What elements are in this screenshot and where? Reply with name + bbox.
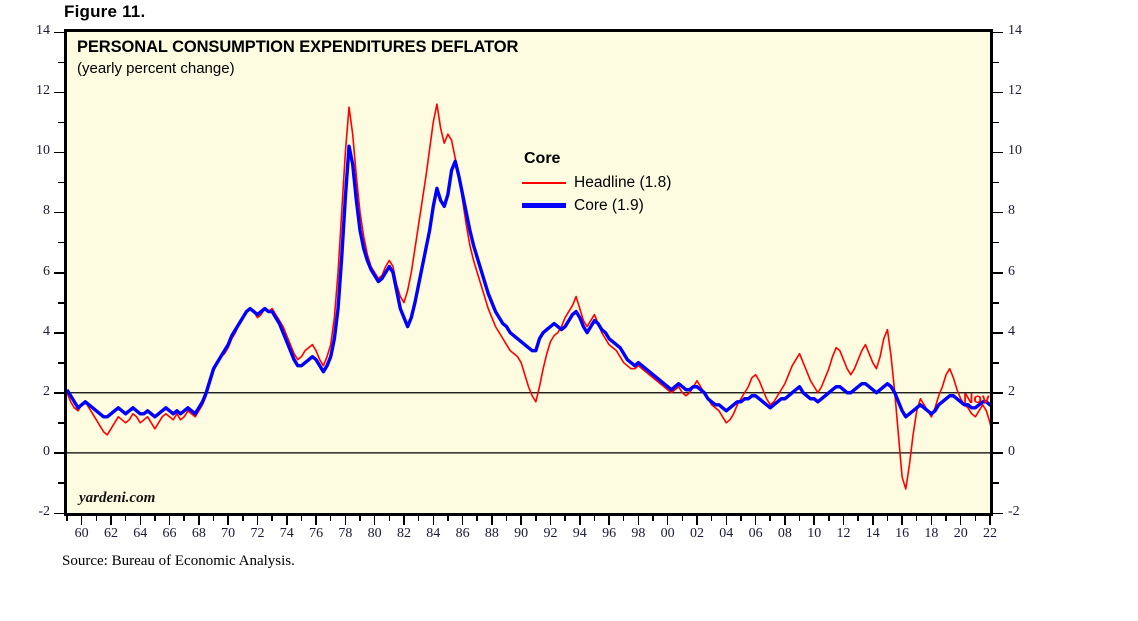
x-axis-label: 64: [125, 526, 155, 542]
x-axis-label: 82: [389, 526, 419, 542]
y-tick-left: [54, 32, 64, 34]
x-axis-label: 04: [711, 526, 741, 542]
x-tick: [96, 516, 98, 521]
y-tick-right: [993, 152, 1003, 154]
x-tick: [198, 516, 200, 525]
x-tick: [140, 516, 142, 525]
y-tick-right: [993, 272, 1003, 274]
x-tick: [169, 516, 171, 525]
y-tick-right: [993, 32, 1003, 34]
x-axis-label: 86: [448, 526, 478, 542]
x-tick: [755, 516, 757, 525]
x-tick: [740, 516, 742, 521]
chart-legend: Core Headline (1.8) Core (1.9): [522, 150, 671, 217]
x-tick: [887, 516, 889, 521]
x-tick: [389, 516, 391, 521]
y-tick-right: [993, 122, 999, 124]
x-tick: [242, 516, 244, 521]
x-tick: [638, 516, 640, 525]
legend-item-core[interactable]: Core (1.9): [522, 194, 671, 217]
legend-title: Core: [524, 150, 671, 168]
x-tick: [520, 516, 522, 525]
y-tick-left: [54, 152, 64, 154]
x-axis-label: 16: [887, 526, 917, 542]
x-tick: [857, 516, 859, 521]
x-tick: [125, 516, 127, 521]
y-tick-left: [54, 272, 64, 274]
y-tick-right: [993, 212, 1003, 214]
y-tick-left: [58, 302, 64, 304]
y-tick-right: [993, 92, 1003, 94]
x-tick: [550, 516, 552, 525]
x-tick: [403, 516, 405, 525]
y-tick-right: [993, 332, 1003, 334]
y-axis-label: 14: [16, 23, 50, 39]
y-tick-right: [993, 482, 999, 484]
x-tick: [813, 516, 815, 525]
y-tick-left: [58, 182, 64, 184]
x-tick: [433, 516, 435, 525]
x-tick: [506, 516, 508, 521]
y-axis-label-right: 8: [1008, 203, 1042, 219]
x-tick: [682, 516, 684, 521]
x-tick: [916, 516, 918, 521]
x-tick: [183, 516, 185, 521]
x-axis-label: 72: [242, 526, 272, 542]
y-axis-label: 4: [16, 324, 50, 340]
y-tick-right: [993, 362, 999, 364]
x-tick: [359, 516, 361, 521]
legend-label-headline: Headline (1.8): [574, 174, 671, 192]
x-axis-label: 02: [682, 526, 712, 542]
x-axis-label: 06: [741, 526, 771, 542]
x-tick: [315, 516, 317, 525]
x-tick: [154, 516, 156, 521]
x-axis-label: 78: [330, 526, 360, 542]
x-axis-label: 98: [623, 526, 653, 542]
y-axis-label: -2: [16, 504, 50, 520]
x-tick: [901, 516, 903, 525]
y-tick-left: [54, 332, 64, 334]
x-tick: [843, 516, 845, 525]
x-tick: [623, 516, 625, 521]
x-tick: [945, 516, 947, 521]
chart-subtitle: (yearly percent change): [77, 60, 235, 77]
x-axis-label: 20: [946, 526, 976, 542]
x-axis-label: 84: [418, 526, 448, 542]
y-axis-label-right: 2: [1008, 384, 1042, 400]
x-tick: [872, 516, 874, 525]
y-tick-right: [993, 452, 1003, 454]
zero-and-two-lines: [67, 393, 990, 453]
x-tick: [667, 516, 669, 525]
y-tick-left: [54, 92, 64, 94]
y-tick-left: [54, 513, 64, 515]
y-tick-right: [993, 422, 999, 424]
end-value-label: Nov: [963, 390, 989, 406]
chart-title: PERSONAL CONSUMPTION EXPENDITURES DEFLAT…: [77, 38, 518, 57]
x-tick: [81, 516, 83, 525]
x-tick: [213, 516, 215, 521]
x-tick: [696, 516, 698, 525]
legend-swatch-core-icon: [522, 203, 566, 208]
x-tick: [564, 516, 566, 521]
y-tick-left: [58, 62, 64, 64]
x-tick: [286, 516, 288, 525]
y-axis-label-right: 14: [1008, 23, 1042, 39]
y-tick-left: [58, 362, 64, 364]
y-tick-right: [993, 302, 999, 304]
y-axis-label: 0: [16, 444, 50, 460]
y-tick-left: [54, 212, 64, 214]
x-axis-label: 18: [916, 526, 946, 542]
y-tick-right: [993, 392, 1003, 394]
x-tick: [828, 516, 830, 521]
x-axis-label: 08: [770, 526, 800, 542]
x-axis-label: 96: [594, 526, 624, 542]
x-tick: [975, 516, 977, 521]
x-tick: [608, 516, 610, 525]
source-note: Source: Bureau of Economic Analysis.: [62, 553, 295, 570]
x-tick: [726, 516, 728, 525]
x-tick: [447, 516, 449, 521]
x-axis-label: 66: [155, 526, 185, 542]
legend-label-core: Core (1.9): [574, 197, 644, 215]
legend-swatch-headline-icon: [522, 182, 566, 184]
x-tick: [769, 516, 771, 521]
x-tick: [535, 516, 537, 521]
y-axis-label: 2: [16, 384, 50, 400]
x-tick: [330, 516, 332, 521]
y-tick-right: [993, 62, 999, 64]
y-tick-left: [58, 242, 64, 244]
x-tick: [652, 516, 654, 521]
y-axis-label: 8: [16, 203, 50, 219]
plot-area: PERSONAL CONSUMPTION EXPENDITURES DEFLAT…: [64, 29, 993, 516]
y-tick-left: [58, 422, 64, 424]
x-tick: [110, 516, 112, 525]
x-axis-label: 10: [799, 526, 829, 542]
y-tick-right: [993, 182, 999, 184]
x-tick: [960, 516, 962, 525]
x-tick: [271, 516, 273, 521]
x-tick: [579, 516, 581, 525]
legend-item-headline[interactable]: Headline (1.8): [522, 171, 671, 194]
y-axis-label: 12: [16, 83, 50, 99]
x-tick: [594, 516, 596, 521]
x-tick: [799, 516, 801, 521]
x-axis-label: 92: [535, 526, 565, 542]
x-axis-label: 76: [301, 526, 331, 542]
x-axis-label: 68: [184, 526, 214, 542]
y-axis-label: 6: [16, 264, 50, 280]
y-tick-right: [993, 242, 999, 244]
x-axis-label: 60: [67, 526, 97, 542]
y-axis-label-right: 10: [1008, 143, 1042, 159]
x-axis-label: 00: [653, 526, 683, 542]
x-tick: [784, 516, 786, 525]
x-tick: [989, 516, 991, 525]
x-tick: [66, 516, 68, 521]
x-axis-label: 90: [506, 526, 536, 542]
series-canvas: [67, 32, 990, 513]
y-axis-label-right: 4: [1008, 324, 1042, 340]
x-tick: [931, 516, 933, 525]
x-axis-label: 22: [975, 526, 1005, 542]
x-tick: [345, 516, 347, 525]
y-axis-label-right: 0: [1008, 444, 1042, 460]
y-axis-label-right: 12: [1008, 83, 1042, 99]
x-tick: [301, 516, 303, 521]
y-axis-label: 10: [16, 143, 50, 159]
x-axis-label: 74: [272, 526, 302, 542]
figure-container: Figure 11. PERSONAL CONSUMPTION EXPENDIT…: [0, 0, 1138, 621]
x-tick: [418, 516, 420, 521]
x-tick: [227, 516, 229, 525]
x-tick: [711, 516, 713, 521]
x-tick: [257, 516, 259, 525]
x-axis-label: 88: [477, 526, 507, 542]
x-axis-label: 70: [213, 526, 243, 542]
y-axis-label-right: 6: [1008, 264, 1042, 280]
x-tick: [462, 516, 464, 525]
y-tick-right: [993, 513, 1003, 515]
y-axis-label-right: -2: [1008, 504, 1042, 520]
y-tick-left: [58, 482, 64, 484]
x-axis-label: 12: [828, 526, 858, 542]
x-tick: [476, 516, 478, 521]
figure-label: Figure 11.: [64, 2, 145, 22]
watermark: yardeni.com: [79, 490, 155, 507]
x-axis-label: 14: [858, 526, 888, 542]
x-axis-label: 94: [565, 526, 595, 542]
x-axis-label: 80: [360, 526, 390, 542]
x-axis-label: 62: [96, 526, 126, 542]
y-tick-left: [54, 452, 64, 454]
y-tick-left: [58, 122, 64, 124]
x-tick: [491, 516, 493, 525]
y-tick-left: [54, 392, 64, 394]
x-tick: [374, 516, 376, 525]
